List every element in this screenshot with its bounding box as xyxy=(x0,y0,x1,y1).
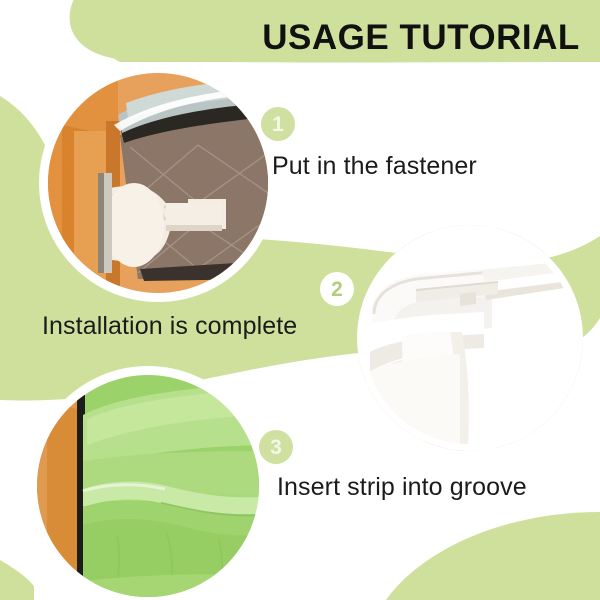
step-2-photo xyxy=(364,232,576,444)
usage-tutorial-poster: USAGE TUTORIAL xyxy=(0,0,600,600)
step-2-caption: Installation is complete xyxy=(42,312,297,341)
green-sheet-mattress-illustration xyxy=(37,375,259,597)
white-clip-product-illustration xyxy=(364,232,576,444)
step-1-badge: 1 xyxy=(261,107,295,141)
step-1-caption: Put in the fastener xyxy=(272,152,477,181)
step-2-badge: 2 xyxy=(320,272,354,306)
step-1-photo xyxy=(48,73,268,293)
step-3-photo xyxy=(37,375,259,597)
bed-frame-fastener-illustration xyxy=(48,73,268,293)
step-3-caption: Insert strip into groove xyxy=(277,473,527,502)
bottom-right-green-blob-2 xyxy=(386,512,600,600)
step-3-badge: 3 xyxy=(259,430,293,464)
page-title: USAGE TUTORIAL xyxy=(256,20,586,57)
bottom-left-green-sliver xyxy=(0,560,34,600)
